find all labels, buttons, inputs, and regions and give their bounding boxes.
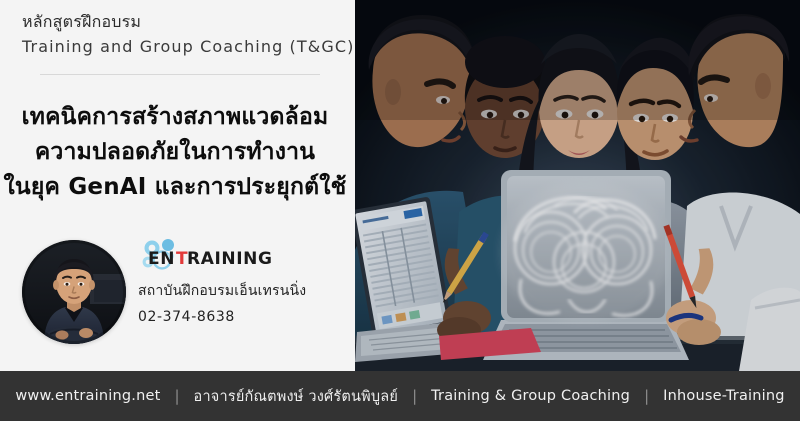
footer-inhouse-training: Inhouse-Training xyxy=(649,388,799,404)
entraining-logo-icon: EN T RAINING xyxy=(138,236,338,276)
footer-instructor-name: อาจารย์กัณตพงษ์ วงศ์รัตนพิบูลย์ xyxy=(180,385,413,408)
header-divider xyxy=(40,74,320,75)
hero-photo xyxy=(355,0,800,371)
headline-line-3: ในยุค GenAI และการประยุกต์ใช้ xyxy=(0,170,350,205)
footer-bar: www.entraining.net | อาจารย์กัณตพงษ์ วงศ… xyxy=(0,371,800,421)
svg-text:RAINING: RAINING xyxy=(187,249,273,269)
svg-text:EN: EN xyxy=(148,249,175,269)
brand-block: EN T RAINING สถาบันฝึกอบรมเอ็นเทรนนิ่ง 0… xyxy=(138,236,348,329)
course-label-english: Training and Group Coaching (T&GC) xyxy=(22,34,342,60)
footer-training-group-coaching: Training & Group Coaching xyxy=(417,388,644,404)
footer-items: www.entraining.net | อาจารย์กัณตพงษ์ วงศ… xyxy=(1,385,798,408)
footer-website[interactable]: www.entraining.net xyxy=(1,388,174,404)
left-content-panel: หลักสูตรฝึกอบรม Training and Group Coach… xyxy=(0,0,355,371)
phone-number: 02-374-8638 xyxy=(138,305,348,329)
headline-block: เทคนิคการสร้างสภาพแวดล้อม ความปลอดภัยในก… xyxy=(0,100,350,205)
course-label-block: หลักสูตรฝึกอบรม Training and Group Coach… xyxy=(22,10,342,60)
institute-name: สถาบันฝึกอบรมเอ็นเทรนนิ่ง xyxy=(138,279,348,303)
course-label-thai: หลักสูตรฝึกอบรม xyxy=(22,10,342,34)
headline-line-1: เทคนิคการสร้างสภาพแวดล้อม xyxy=(0,100,350,135)
headline-line-2: ความปลอดภัยในการทำงาน xyxy=(0,135,350,170)
identity-block: EN T RAINING สถาบันฝึกอบรมเอ็นเทรนนิ่ง 0… xyxy=(22,236,342,356)
avatar xyxy=(22,240,126,344)
training-course-banner: หลักสูตรฝึกอบรม Training and Group Coach… xyxy=(0,0,800,421)
